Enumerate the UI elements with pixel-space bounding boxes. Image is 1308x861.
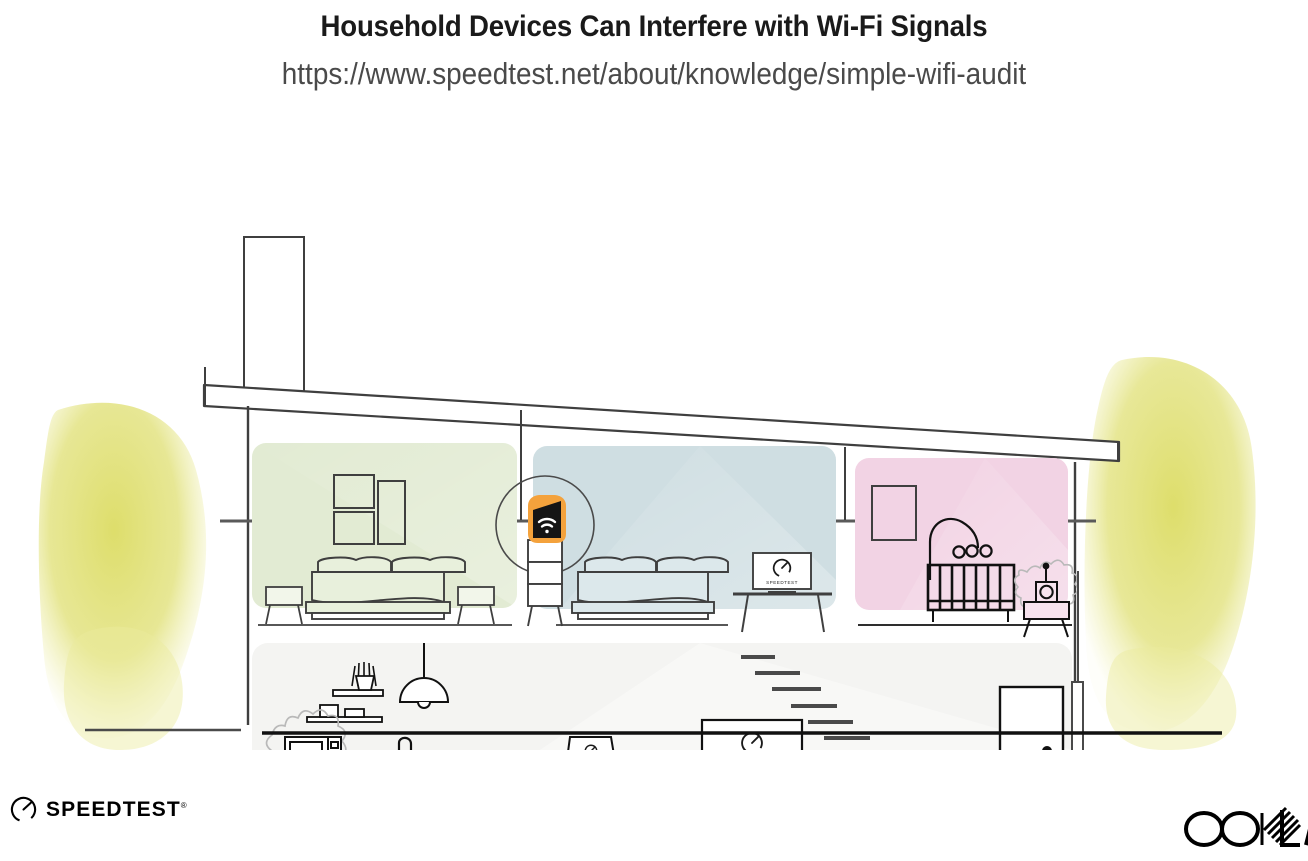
room-bedroom-left xyxy=(252,443,517,625)
header: Household Devices Can Interfere with Wi-… xyxy=(0,0,1308,89)
chimney xyxy=(244,237,304,392)
wifi-router-marker[interactable] xyxy=(528,495,566,543)
nightstand-right xyxy=(458,587,494,624)
nightstand-left xyxy=(266,587,302,624)
speedometer-icon xyxy=(10,796,37,823)
page-title: Household Devices Can Interfere with Wi-… xyxy=(52,0,1255,42)
television: SPEEDTEST xyxy=(702,720,802,750)
foliage-left xyxy=(39,403,206,750)
footer: SPEEDTEST® xyxy=(0,780,1308,861)
room-nursery-right xyxy=(855,458,1078,637)
speedtest-wordmark: SPEEDTEST® xyxy=(46,798,187,822)
bed-center xyxy=(572,557,728,619)
house-cutaway-svg: SPEEDTEST xyxy=(0,110,1308,750)
nightstand-nursery xyxy=(1024,602,1069,637)
shelf-unit xyxy=(528,540,562,626)
bed-left xyxy=(306,557,465,619)
ookla-logo: ® xyxy=(1182,804,1308,855)
speedtest-logo: SPEEDTEST® xyxy=(10,796,187,823)
source-url: https://www.speedtest.net/about/knowledg… xyxy=(65,42,1242,89)
front-door[interactable] xyxy=(1000,687,1063,750)
speedtest-trademark: ® xyxy=(181,801,187,810)
house-illustration: SPEEDTEST xyxy=(0,110,1308,750)
monitor-brand-label: SPEEDTEST xyxy=(766,580,798,585)
ookla-wordmark-icon: ® xyxy=(1182,804,1308,850)
poster-root: Household Devices Can Interfere with Wi-… xyxy=(0,0,1308,861)
room-bedroom-center: SPEEDTEST xyxy=(533,446,836,632)
microwave xyxy=(285,737,341,750)
foliage-right xyxy=(1085,357,1256,750)
